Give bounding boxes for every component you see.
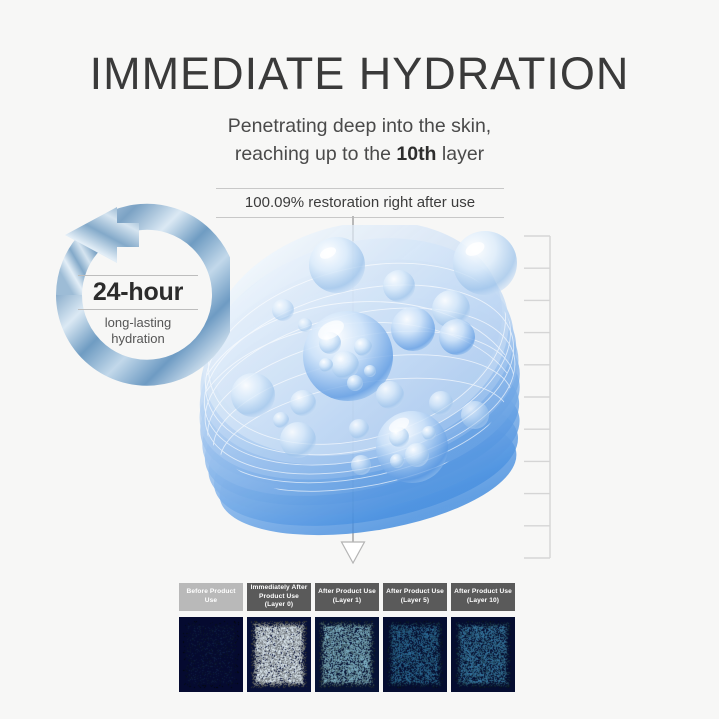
comparison-table: Before Product UseImmediately After Prod…	[179, 583, 535, 698]
24-hour-badge-text: 24-hour long-lasting hydration	[78, 275, 198, 347]
subtitle-line-2: reaching up to the 10th layer	[0, 140, 719, 168]
column-header-0: Before Product Use	[179, 583, 243, 611]
subtitle-line-2-post: layer	[436, 143, 484, 165]
skin-layer-ruler	[520, 232, 560, 562]
24-hour-subtext-line-1: long-lasting	[78, 315, 198, 331]
column-header-4: After Product Use (Layer 10)	[451, 583, 515, 611]
column-header-1: Immediately After Product Use (Layer 0)	[247, 583, 311, 611]
24-hour-subtext-line-2: hydration	[78, 331, 198, 347]
24-hour-headline: 24-hour	[78, 275, 198, 310]
restoration-callout: 100.09% restoration right after use	[216, 188, 504, 218]
comparison-table-swatches	[179, 617, 535, 692]
fluorescence-swatch-3	[383, 617, 447, 692]
infographic-canvas: IMMEDIATE HYDRATION Penetrating deep int…	[0, 0, 719, 719]
fluorescence-swatch-4	[451, 617, 515, 692]
subtitle-layer-number: 10th	[396, 143, 436, 165]
column-header-3: After Product Use (Layer 5)	[383, 583, 447, 611]
fluorescence-swatch-1	[247, 617, 311, 692]
page-title: IMMEDIATE HYDRATION	[0, 48, 719, 100]
comparison-table-headers: Before Product UseImmediately After Prod…	[179, 583, 535, 611]
fluorescence-swatch-0	[179, 617, 243, 692]
24-hour-subtext: long-lasting hydration	[78, 315, 198, 347]
hydration-layers-graphic	[185, 225, 530, 555]
subtitle-line-2-pre: reaching up to the	[235, 143, 397, 165]
column-header-2: After Product Use (Layer 1)	[315, 583, 379, 611]
fluorescence-swatch-2	[315, 617, 379, 692]
page-subtitle: Penetrating deep into the skin, reaching…	[0, 112, 719, 168]
subtitle-line-1: Penetrating deep into the skin,	[0, 112, 719, 140]
